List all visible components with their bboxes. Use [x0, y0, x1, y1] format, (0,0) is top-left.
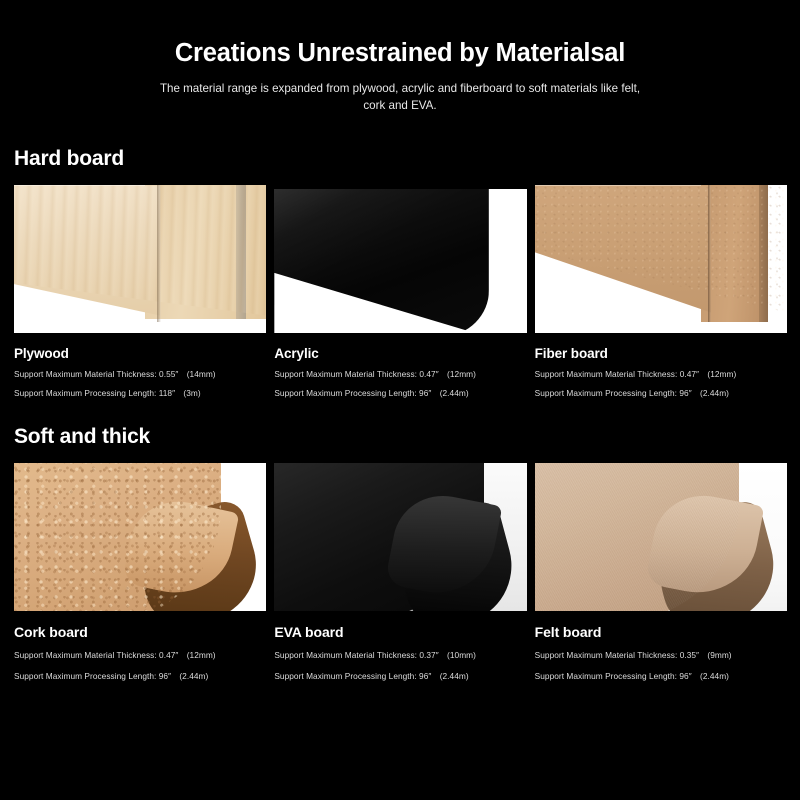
material-card-fiber-board[interactable]: Fiber board Support Maximum Material Thi…	[535, 185, 787, 399]
spec-length-acrylic: Support Maximum Processing Length: 96″ (…	[274, 387, 526, 399]
spec-length-eva-board: Support Maximum Processing Length: 96″ (…	[274, 670, 526, 682]
cork-board-photo	[14, 463, 266, 611]
material-card-cork-board[interactable]: Cork board Support Maximum Material Thic…	[14, 463, 266, 682]
material-showcase-page: Creations Unrestrained by Materialsal Th…	[0, 0, 800, 800]
spec-length-plywood: Support Maximum Processing Length: 118″ …	[14, 387, 266, 399]
material-card-felt-board[interactable]: Felt board Support Maximum Material Thic…	[535, 463, 787, 682]
spec-thickness-eva-board: Support Maximum Material Thickness: 0.37…	[274, 649, 526, 661]
section-heading-hard-board: Hard board	[14, 147, 800, 171]
card-title-fiber-board: Fiber board	[535, 346, 787, 361]
section-hard-board: Hard board Plywood Support Maximum Mater…	[0, 147, 800, 399]
eva-board-photo	[274, 463, 526, 611]
material-card-eva-board[interactable]: EVA board Support Maximum Material Thick…	[274, 463, 526, 682]
spec-thickness-acrylic: Support Maximum Material Thickness: 0.47…	[274, 368, 526, 380]
card-title-acrylic: Acrylic	[274, 346, 526, 361]
plywood-panel-seam	[157, 185, 161, 321]
card-title-felt-board: Felt board	[535, 624, 787, 640]
acrylic-photo	[274, 185, 526, 333]
section-soft-and-thick: Soft and thick Cork board Support Maximu…	[0, 425, 800, 682]
felt-board-photo	[535, 463, 787, 611]
material-card-plywood[interactable]: Plywood Support Maximum Material Thickne…	[14, 185, 266, 399]
plywood-photo	[14, 185, 266, 333]
spec-thickness-felt-board: Support Maximum Material Thickness: 0.35…	[535, 649, 787, 661]
spec-thickness-cork-board: Support Maximum Material Thickness: 0.47…	[14, 649, 266, 661]
card-title-eva-board: EVA board	[274, 624, 526, 640]
card-title-plywood: Plywood	[14, 346, 266, 361]
page-subtitle: The material range is expanded from plyw…	[150, 80, 650, 115]
spec-thickness-fiber-board: Support Maximum Material Thickness: 0.47…	[535, 368, 787, 380]
soft-material-card-grid: Cork board Support Maximum Material Thic…	[14, 463, 787, 682]
hard-board-card-grid: Plywood Support Maximum Material Thickne…	[14, 185, 787, 399]
page-header: Creations Unrestrained by Materialsal Th…	[0, 0, 800, 114]
spec-length-cork-board: Support Maximum Processing Length: 96″ (…	[14, 670, 266, 682]
fiber-board-photo	[535, 185, 787, 333]
fiber-board-panel-seam	[708, 185, 712, 321]
spec-thickness-plywood: Support Maximum Material Thickness: 0.55…	[14, 368, 266, 380]
spec-length-felt-board: Support Maximum Processing Length: 96″ (…	[535, 670, 787, 682]
spec-length-fiber-board: Support Maximum Processing Length: 96″ (…	[535, 387, 787, 399]
page-title: Creations Unrestrained by Materialsal	[0, 38, 800, 69]
acrylic-top-gap	[274, 185, 526, 189]
card-title-cork-board: Cork board	[14, 624, 266, 640]
section-heading-soft-and-thick: Soft and thick	[14, 425, 800, 449]
material-card-acrylic[interactable]: Acrylic Support Maximum Material Thickne…	[274, 185, 526, 399]
